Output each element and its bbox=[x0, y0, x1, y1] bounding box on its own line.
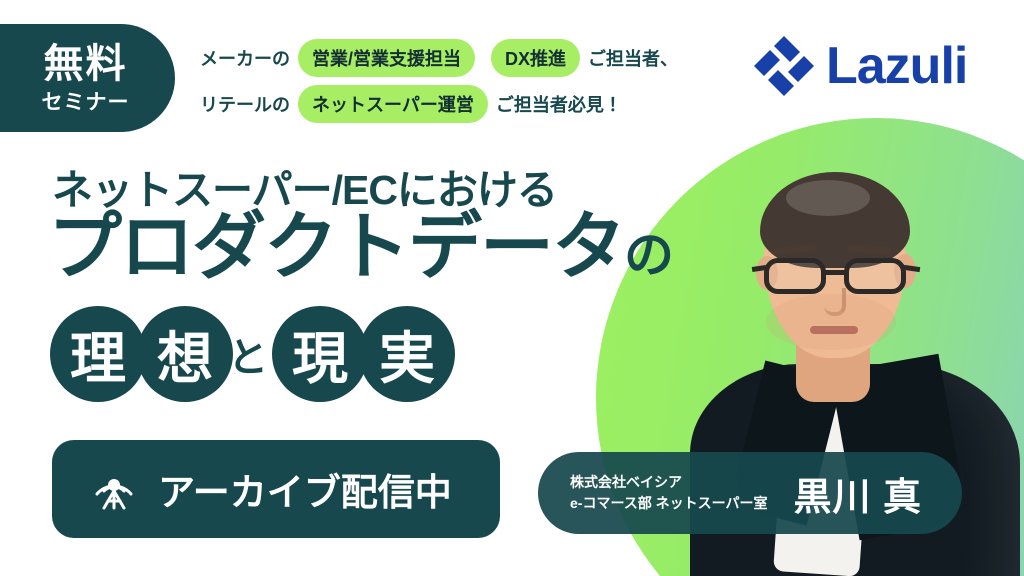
audience-row-2: リテールの ネットスーパー運営 ご担当者必見！ bbox=[200, 84, 740, 124]
kanji-circle-gen: 現 bbox=[272, 306, 368, 402]
speaker-company: 株式会社ベイシア bbox=[570, 472, 768, 493]
archive-availability-badge: アーカイブ配信中 bbox=[52, 440, 500, 538]
kanji-circle-jitsu: 実 bbox=[359, 306, 455, 402]
speaker-department: e-コマース部 ネットスーパー室 bbox=[570, 493, 768, 514]
glasses-temple-right bbox=[904, 265, 921, 272]
glasses-bridge bbox=[824, 270, 846, 275]
glasses-lens-right bbox=[844, 258, 906, 294]
headline-line-2-main: プロダクトデータ bbox=[48, 205, 624, 288]
audience-row-2-prefix: リテールの bbox=[200, 91, 290, 117]
speaker-hair-highlight bbox=[786, 180, 870, 216]
audience-lines: メーカーの 営業/営業支援担当 DX推進 ご担当者、 リテールの ネットスーパー… bbox=[200, 38, 740, 130]
lazuli-logo: Lazuli bbox=[752, 34, 967, 98]
headline-line-2: プロダクトデータの bbox=[48, 208, 672, 286]
glasses-lens-left bbox=[764, 258, 826, 294]
audience-pill-netsuper: ネットスーパー運営 bbox=[298, 85, 488, 123]
audience-pill-sales: 営業/営業支援担当 bbox=[298, 39, 475, 77]
seminar-banner: 無料 セミナー メーカーの 営業/営業支援担当 DX推進 ご担当者、 リテールの… bbox=[0, 0, 1024, 576]
audience-pill-dx: DX推進 bbox=[491, 39, 580, 77]
speaker-name: 黒川 真 bbox=[794, 466, 923, 521]
lazuli-wordmark: Lazuli bbox=[826, 40, 967, 92]
free-seminar-badge: 無料 セミナー bbox=[0, 24, 175, 132]
kanji-circle-sou: 想 bbox=[137, 306, 233, 402]
speaker-affiliation: 株式会社ベイシア e-コマース部 ネットスーパー室 bbox=[570, 472, 768, 514]
lazuli-pinwheel-diamond-icon bbox=[752, 34, 816, 98]
free-badge-primary-label: 無料 bbox=[44, 44, 128, 84]
ideal-vs-reality-row: 理 想 と 現 実 bbox=[50, 306, 446, 402]
audience-row-1-suffix: ご担当者、 bbox=[588, 45, 678, 71]
kanji-connector-to: と bbox=[228, 325, 268, 383]
kanji-circle-ri: 理 bbox=[50, 306, 146, 402]
headline-line-2-suffix: の bbox=[624, 227, 672, 283]
archive-label: アーカイブ配信中 bbox=[158, 462, 452, 516]
audience-row-2-suffix: ご担当者必見！ bbox=[496, 91, 622, 117]
broadcast-tower-icon bbox=[88, 461, 140, 518]
speaker-nameplate: 株式会社ベイシア e-コマース部 ネットスーパー室 黒川 真 bbox=[538, 452, 962, 534]
free-badge-secondary-label: セミナー bbox=[42, 92, 130, 113]
audience-row-1-prefix: メーカーの bbox=[200, 45, 290, 71]
speaker-mouth bbox=[810, 326, 858, 334]
speaker-glasses bbox=[758, 258, 914, 296]
audience-row-1: メーカーの 営業/営業支援担当 DX推進 ご担当者、 bbox=[200, 38, 740, 78]
